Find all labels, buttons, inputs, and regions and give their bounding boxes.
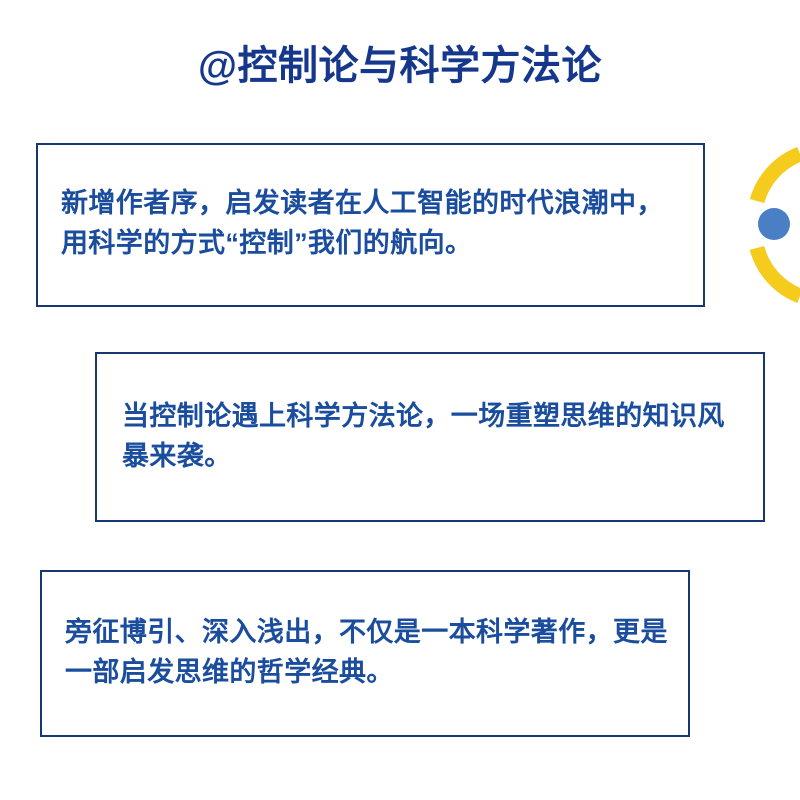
statement-text-3: 旁征博引、深入浅出，不仅是一本科学著作，更是一部启发思维的哲学经典。 [42,612,688,692]
ring-arc-upper-icon [757,154,800,201]
statement-box-1: 新增作者序，启发读者在人工智能的时代浪潮中，用科学的方式“控制”我们的航向。 [36,143,705,307]
poster-canvas: @控制论与科学方法论 新增作者序，启发读者在人工智能的时代浪潮中，用科学的方式“… [0,0,800,800]
statement-text-2: 当控制论遇上科学方法论，一场重塑思维的知识风暴来袭。 [97,396,763,476]
statement-box-2: 当控制论遇上科学方法论，一场重塑思维的知识风暴来袭。 [95,352,765,522]
ring-arc-lower-icon [757,248,800,296]
statement-box-3: 旁征博引、深入浅出，不仅是一本科学著作，更是一部启发思维的哲学经典。 [40,570,690,737]
ring-svg [700,100,800,350]
decorative-ring-graphic [700,100,800,350]
ring-center-dot-icon [758,208,790,240]
page-title: @控制论与科学方法论 [0,42,800,90]
statement-text-1: 新增作者序，启发读者在人工智能的时代浪潮中，用科学的方式“控制”我们的航向。 [38,183,703,263]
